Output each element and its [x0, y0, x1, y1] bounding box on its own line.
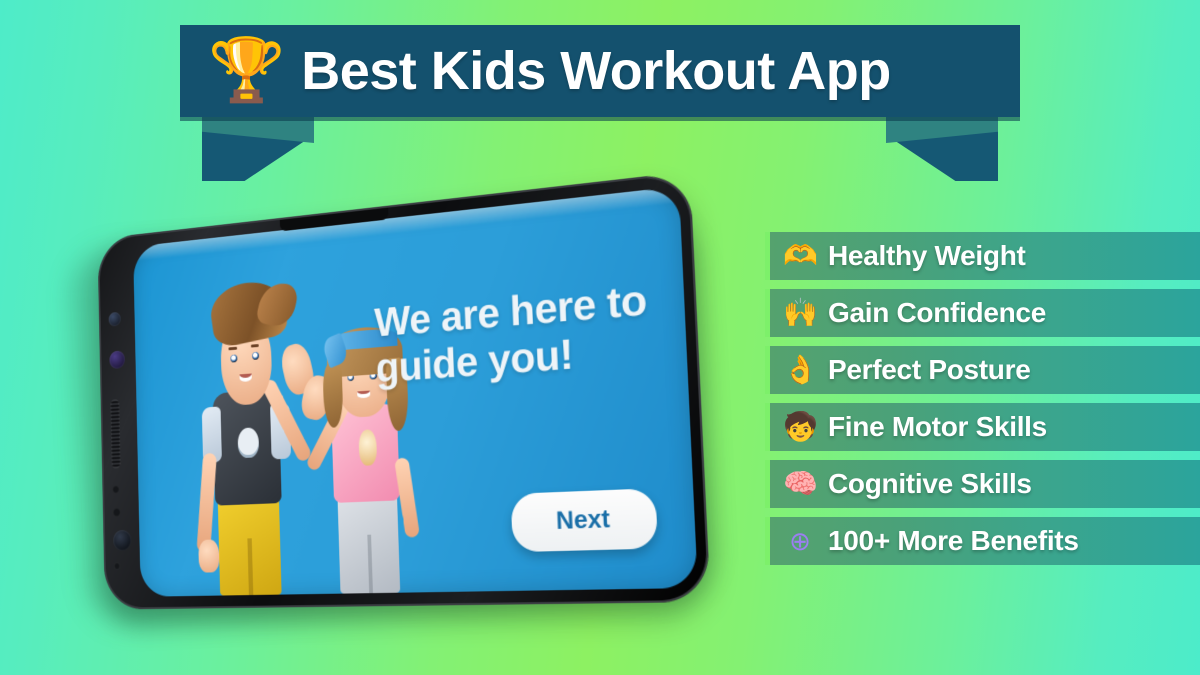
benefit-row-more-benefits[interactable]: ⊕ 100+ More Benefits	[765, 517, 1200, 565]
phone-screen[interactable]: We are here to guide you! Next	[133, 186, 698, 597]
boy-left-arm	[197, 453, 217, 553]
sensor-dot-icon	[113, 508, 121, 518]
heart-in-hand-icon: 🫶	[783, 242, 817, 270]
benefit-row-gain-confidence[interactable]: 🙌 Gain Confidence	[765, 289, 1200, 337]
head-with-brain-icon: 🧠	[783, 470, 817, 498]
earpiece-speaker-grille	[110, 399, 120, 468]
benefit-label: Perfect Posture	[828, 354, 1030, 386]
boy-eye-right	[252, 352, 259, 361]
onboarding-headline: We are here to guide you!	[374, 276, 657, 392]
boy-smile	[239, 374, 251, 382]
girl-smile	[357, 391, 370, 398]
benefit-row-fine-motor-skills[interactable]: 🧒 Fine Motor Skills	[765, 403, 1200, 451]
girl-hair-side-right	[385, 357, 409, 431]
benefit-row-perfect-posture[interactable]: 👌 Perfect Posture	[765, 346, 1200, 394]
sensor-dot-icon	[112, 485, 119, 494]
girl-shirt-kitten-icon	[358, 429, 378, 466]
girl-leggings-split	[367, 535, 373, 593]
front-camera-lens-icon	[113, 530, 131, 551]
benefit-label: Gain Confidence	[828, 297, 1046, 329]
phone-device: We are here to guide you! Next	[97, 171, 710, 609]
boy-eye-left	[230, 354, 237, 363]
girl-character	[293, 285, 444, 594]
benefits-list: 🫶 Healthy Weight 🙌 Gain Confidence 👌 Per…	[765, 232, 1200, 574]
benefit-label: Healthy Weight	[828, 240, 1026, 272]
boy-lowered-hand	[198, 539, 219, 573]
benefit-row-cognitive-skills[interactable]: 🧠 Cognitive Skills	[765, 460, 1200, 508]
benefit-label: 100+ More Benefits	[828, 525, 1079, 557]
two-kids-high-five-illustration	[172, 242, 456, 596]
boy-brow-right	[251, 344, 259, 348]
onboarding-headline-line2: guide you!	[375, 325, 656, 393]
sensor-dot-icon	[114, 562, 121, 570]
ribbon-tail-left	[202, 115, 314, 181]
circle-plus-icon: ⊕	[783, 528, 817, 554]
benefit-label: Fine Motor Skills	[828, 411, 1047, 443]
page-title: Best Kids Workout App	[301, 40, 891, 102]
flexing-person-icon: 🙌	[783, 299, 817, 327]
benefit-label: Cognitive Skills	[828, 468, 1032, 500]
girl-leggings	[338, 491, 401, 593]
onboarding-headline-line1: We are here to	[374, 276, 654, 346]
boy-shirt-logo-icon	[238, 427, 259, 458]
boy-brow-left	[229, 346, 237, 350]
benefit-row-healthy-weight[interactable]: 🫶 Healthy Weight	[765, 232, 1200, 280]
banner-bar: 🏆 Best Kids Workout App	[180, 25, 1020, 117]
banner: 🏆 Best Kids Workout App	[180, 25, 1020, 180]
phone-mockup: We are here to guide you! Next	[58, 205, 718, 635]
child-growth-icon: 🧒	[783, 413, 817, 441]
phone-frame: We are here to guide you! Next	[97, 171, 710, 609]
iris-scanner-icon	[109, 350, 125, 369]
ok-hand-gesture-icon: 👌	[783, 356, 817, 384]
ribbon-tail-right	[886, 115, 998, 181]
next-button[interactable]: Next	[510, 488, 657, 552]
trophy-award-icon: 🏆	[208, 40, 285, 102]
proximity-sensor-icon	[109, 312, 121, 327]
girl-right-arm	[394, 457, 420, 538]
